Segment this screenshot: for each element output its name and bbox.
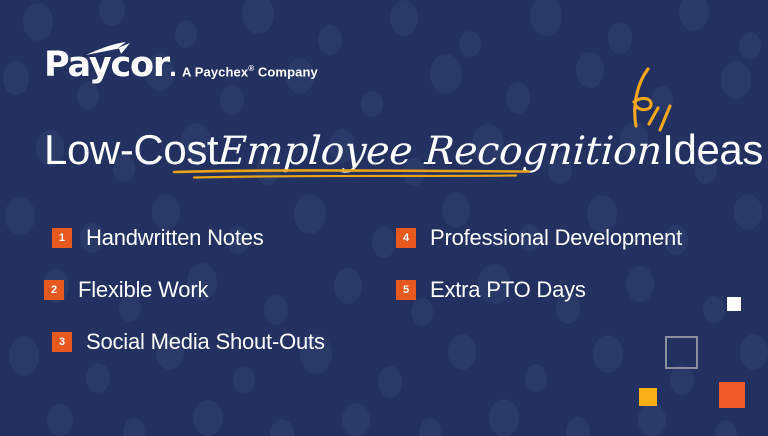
list-item[interactable]: 4 Professional Development bbox=[396, 225, 682, 251]
hand-drawn-flourish-doodle-icon bbox=[618, 64, 684, 136]
ideas-list-right-column: 4 Professional Development 5 Extra PTO D… bbox=[396, 225, 682, 329]
list-item-label: Handwritten Notes bbox=[86, 225, 264, 251]
gray-outlined-square-decoration bbox=[665, 336, 698, 369]
white-filled-square-decoration bbox=[727, 297, 741, 311]
list-item-number-badge: 3 bbox=[52, 332, 72, 352]
ideas-list-left-column: 1 Handwritten Notes 2 Flexible Work 3 So… bbox=[44, 225, 325, 381]
list-item-number-badge: 2 bbox=[44, 280, 64, 300]
headline: Low-Cost Employee Recognition Ideas bbox=[44, 126, 704, 182]
list-item-number-badge: 5 bbox=[396, 280, 416, 300]
list-item[interactable]: 2 Flexible Work bbox=[44, 277, 325, 303]
brand-logo: Paycor. A Paychex® Company bbox=[44, 50, 318, 84]
paychex-tagline: A Paychex® Company bbox=[182, 64, 318, 79]
list-item[interactable]: 1 Handwritten Notes bbox=[52, 225, 325, 251]
list-item-label: Extra PTO Days bbox=[430, 277, 586, 303]
list-item-label: Social Media Shout-Outs bbox=[86, 329, 325, 355]
list-item-number-badge: 1 bbox=[52, 228, 72, 248]
orange-filled-square-decoration bbox=[719, 382, 745, 408]
list-item-label: Flexible Work bbox=[78, 277, 208, 303]
gold-filled-square-decoration bbox=[639, 388, 657, 406]
list-item-label: Professional Development bbox=[430, 225, 682, 251]
paycor-logotype: Paycor. bbox=[44, 50, 168, 84]
headline-part-low-cost: Low-Cost bbox=[44, 126, 218, 174]
list-item[interactable]: 3 Social Media Shout-Outs bbox=[52, 329, 325, 355]
promo-graphic-card: Paycor. A Paychex® Company Low-Cost Empl… bbox=[0, 0, 768, 436]
list-item[interactable]: 5 Extra PTO Days bbox=[396, 277, 682, 303]
list-item-number-badge: 4 bbox=[396, 228, 416, 248]
paycor-swoosh-icon bbox=[85, 41, 131, 57]
headline-part-script: Employee Recognition bbox=[217, 129, 664, 174]
